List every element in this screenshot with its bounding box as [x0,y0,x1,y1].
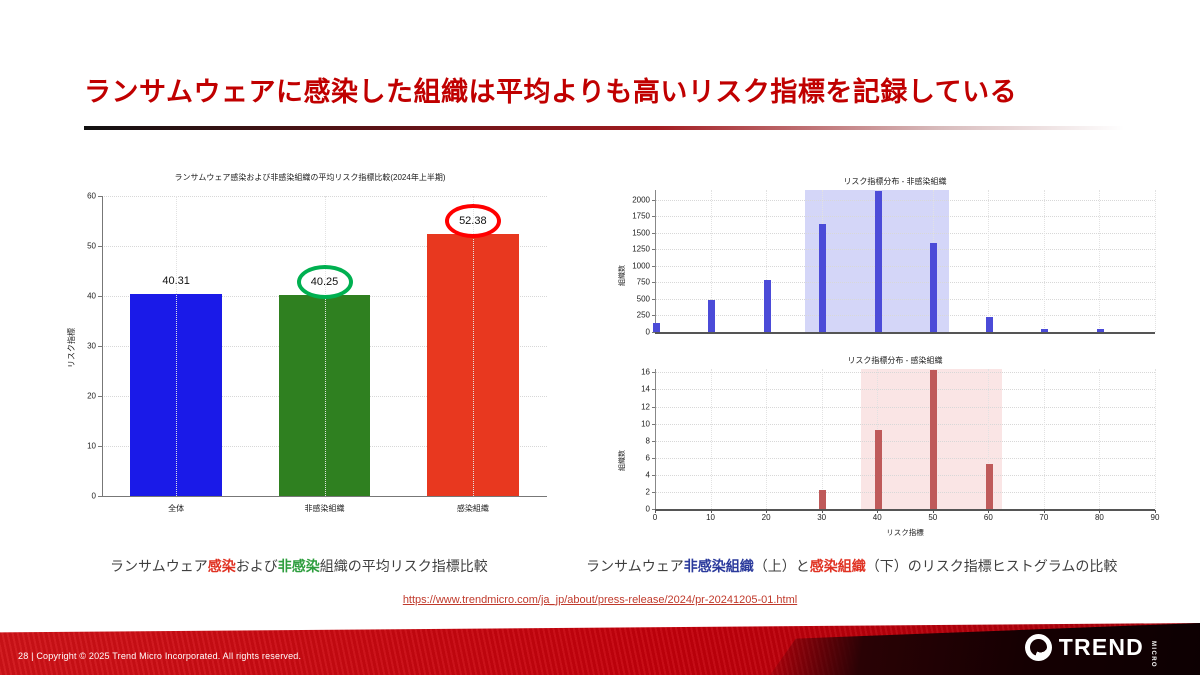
caption-right-part1: ランサムウェア [586,558,684,574]
annotation-ellipse-2 [445,204,501,238]
hist-bot-plot-x-tickmark [711,510,712,513]
annotation-ellipse-1 [297,265,353,299]
hist-bot-plot-y-tick: 16 [641,368,650,377]
hist-top-plot-gridline-v [988,190,990,332]
bar-y-tick: 10 [87,442,96,451]
hist-top-plot-gridline-h [655,249,1155,251]
hist-bot-plot-y-tick: 2 [646,487,650,496]
hist-bot-plot-x-tick: 0 [653,513,657,522]
bar-y-tick: 40 [87,292,96,301]
hist-bot-plot-x-tick: 20 [762,513,771,522]
hist-bot-plot-x-tick: 90 [1151,513,1160,522]
hist-bot-plot-gridline-h [655,372,1155,374]
hist-bot-plot-x-tickmark [766,510,767,513]
hist-bot-plot-gridline-h [655,424,1155,426]
caption-left-part2: および [236,558,278,574]
hist-bot-plot-x-tick: 60 [984,513,993,522]
hist-top-plot-y-tick: 1750 [632,212,650,221]
hist-bot-plot-gridline-h [655,441,1155,443]
hist-bot-plot-gridline-v [1099,369,1101,509]
hist-bot-plot-y-tick: 0 [646,505,650,514]
hist-bot-plot-bar-60 [986,464,993,509]
hist-top-plot-gridline-h [655,315,1155,317]
hist-bot-plot-x-tickmark [933,510,934,513]
caption-left-emphasis-infected: 感染 [208,558,236,574]
hist-bot-plot-x-tick: 80 [1095,513,1104,522]
hist-bot-plot-x-tickmark [877,510,878,513]
source-url-link[interactable]: https://www.trendmicro.com/ja_jp/about/p… [0,594,1200,606]
chart-title-hist-uninfected: リスク指標分布 - 非感染組織 [615,176,1175,187]
hist-top-plot-bar-20 [764,280,771,332]
bar-category-label-1: 全体 [168,503,184,514]
hist-bot-plot-y-tick: 6 [646,453,650,462]
hist-bot-plot-y-tick: 8 [646,436,650,445]
hist-bot-plot-y-tick: 14 [641,385,650,394]
hist-bot-plot-x-tickmark [655,510,656,513]
bar-y-tick: 0 [92,492,96,501]
hist-top-plot-bar-80 [1097,329,1104,332]
hist-top-y-axis-label: 組織数 [617,265,627,286]
hist-top-plot-y-tick: 0 [646,328,650,337]
bar-y-tick: 30 [87,342,96,351]
chart-hist-infected: リスク指標分布 - 感染組織 組織数 024681012141601020304… [615,355,1175,540]
hist-top-plot-gridline-v [1099,190,1101,332]
hist-bot-plot-x-tickmark [1155,510,1156,513]
logo-subtext: MICRO [1150,641,1156,668]
bar-y-axis [102,196,103,496]
hist-top-plot-gridline-h [655,200,1155,202]
caption-right-emphasis-uninfected: 非感染組織 [684,558,754,574]
caption-right-part3: （下）のリスク指標ヒストグラムの比較 [866,558,1118,574]
bar-plot-area: 010203040506040.31全体40.25非感染組織52.38感染組織 [102,196,547,496]
hist-bot-plot-bar-50 [930,370,937,509]
hist-bot-plot-area: 02468101214160102030405060708090 [655,369,1155,509]
bar-y-axis-label: リスク指標 [66,328,77,368]
hist-top-plot-x-axis [655,332,1155,334]
caption-right-part2: （上）と [754,558,810,574]
chart-avg-risk-bar: ランサムウェア感染および非感染組織の平均リスク指標比較(2024年上半期) リス… [60,172,560,532]
hist-top-plot-gridline-h [655,266,1155,268]
hist-bot-plot-x-tick: 50 [928,513,937,522]
hist-top-plot-y-tick: 750 [637,278,650,287]
hist-top-plot-gridline-v [1155,190,1157,332]
hist-bot-plot-y-axis [655,369,656,509]
slide-canvas: ランサムウェアに感染した組織は平均よりも高いリスク指標を記録している ランサムウ… [0,0,1200,675]
hist-top-plot-y-tick: 250 [637,311,650,320]
hist-top-plot-y-tick: 500 [637,294,650,303]
hist-bot-plot-bar-30 [819,490,826,509]
hist-top-plot-gridline-v [1044,190,1046,332]
hist-bot-plot-x-tickmark [988,510,989,513]
bar-category-label-3: 感染組織 [457,503,489,514]
hist-top-plot-y-tick: 1250 [632,245,650,254]
hist-bot-plot-x-tick: 40 [873,513,882,522]
hist-bot-plot-gridline-v [766,369,768,509]
title-divider [84,126,1124,130]
hist-bot-plot-x-tickmark [1099,510,1100,513]
bar-vgridline [473,196,475,496]
hist-bot-plot-x-tick: 70 [1039,513,1048,522]
hist-bot-plot-y-tick: 12 [641,402,650,411]
hist-top-plot-gridline-h [655,282,1155,284]
caption-left: ランサムウェア感染および非感染組織の平均リスク指標比較 [110,556,488,576]
hist-bot-plot-gridline-h [655,458,1155,460]
hist-top-plot-area: 025050075010001250150017502000 [655,190,1155,332]
hist-bot-plot-x-axis [655,509,1155,511]
hist-top-plot-bar-70 [1041,329,1048,332]
chart-title-bar: ランサムウェア感染および非感染組織の平均リスク指標比較(2024年上半期) [60,172,560,183]
hist-top-plot-bar-50 [930,243,937,332]
caption-right-emphasis-infected: 感染組織 [810,558,866,574]
hist-top-plot-bar-10 [708,300,715,332]
hist-top-plot-bar-40 [875,191,882,332]
hist-bot-plot-gridline-h [655,475,1155,477]
caption-left-part1: ランサムウェア [110,558,208,574]
bar-x-axis [102,496,547,497]
hist-bot-plot-x-tickmark [822,510,823,513]
hist-top-plot-bar-30 [819,224,826,332]
hist-bot-plot-x-tick: 30 [817,513,826,522]
hist-bot-plot-x-tick: 10 [706,513,715,522]
bar-category-label-2: 非感染組織 [305,503,345,514]
chart-hist-uninfected: リスク指標分布 - 非感染組織 組織数 02505007501000125015… [615,176,1175,348]
hist-top-plot-gridline-h [655,299,1155,301]
hist-top-plot-gridline-h [655,216,1155,218]
bar-y-tick: 20 [87,392,96,401]
caption-left-emphasis-uninfected: 非感染 [278,558,320,574]
hist-top-plot-gridline-h [655,233,1155,235]
caption-left-part3: 組織の平均リスク指標比較 [320,558,488,574]
hist-bot-plot-bar-40 [875,430,882,509]
hist-top-plot-bar-0 [653,323,660,332]
bar-y-tick: 60 [87,192,96,201]
hist-top-plot-bar-60 [986,317,993,332]
hist-top-plot-y-tick: 1000 [632,261,650,270]
hist-bot-plot-gridline-v [1044,369,1046,509]
hist-bot-x-axis-label: リスク指標 [655,527,1155,538]
caption-right: ランサムウェア非感染組織（上）と感染組織（下）のリスク指標ヒストグラムの比較 [586,556,1117,576]
hist-bot-plot-y-tick: 4 [646,470,650,479]
hist-bot-plot-gridline-v [822,369,824,509]
hist-bot-plot-x-tickmark [1044,510,1045,513]
trend-micro-mark-icon [1025,634,1052,661]
bar-vgridline [325,196,327,496]
hist-bot-plot-gridline-h [655,492,1155,494]
hist-top-plot-y-tick: 2000 [632,195,650,204]
logo-wordmark: TREND [1059,636,1144,659]
hist-bot-plot-gridline-h [655,407,1155,409]
chart-title-hist-infected: リスク指標分布 - 感染組織 [615,355,1175,366]
bar-y-tick: 50 [87,242,96,251]
hist-top-plot-y-tick: 1500 [632,228,650,237]
hist-bot-plot-gridline-h [655,389,1155,391]
hist-bot-plot-gridline-v [1155,369,1157,509]
bar-value-label-1: 40.31 [162,275,190,287]
page-title: ランサムウェアに感染した組織は平均よりも高いリスク指標を記録している [84,70,1134,109]
hist-bot-y-axis-label: 組織数 [617,450,627,471]
hist-top-plot-y-axis [655,190,656,332]
hist-bot-plot-gridline-v [711,369,713,509]
footer-copyright: 28 | Copyright © 2025 Trend Micro Incorp… [18,651,301,661]
bar-vgridline [176,196,178,496]
trend-micro-logo: TREND MICRO [1025,634,1178,661]
hist-bot-plot-y-tick: 10 [641,419,650,428]
